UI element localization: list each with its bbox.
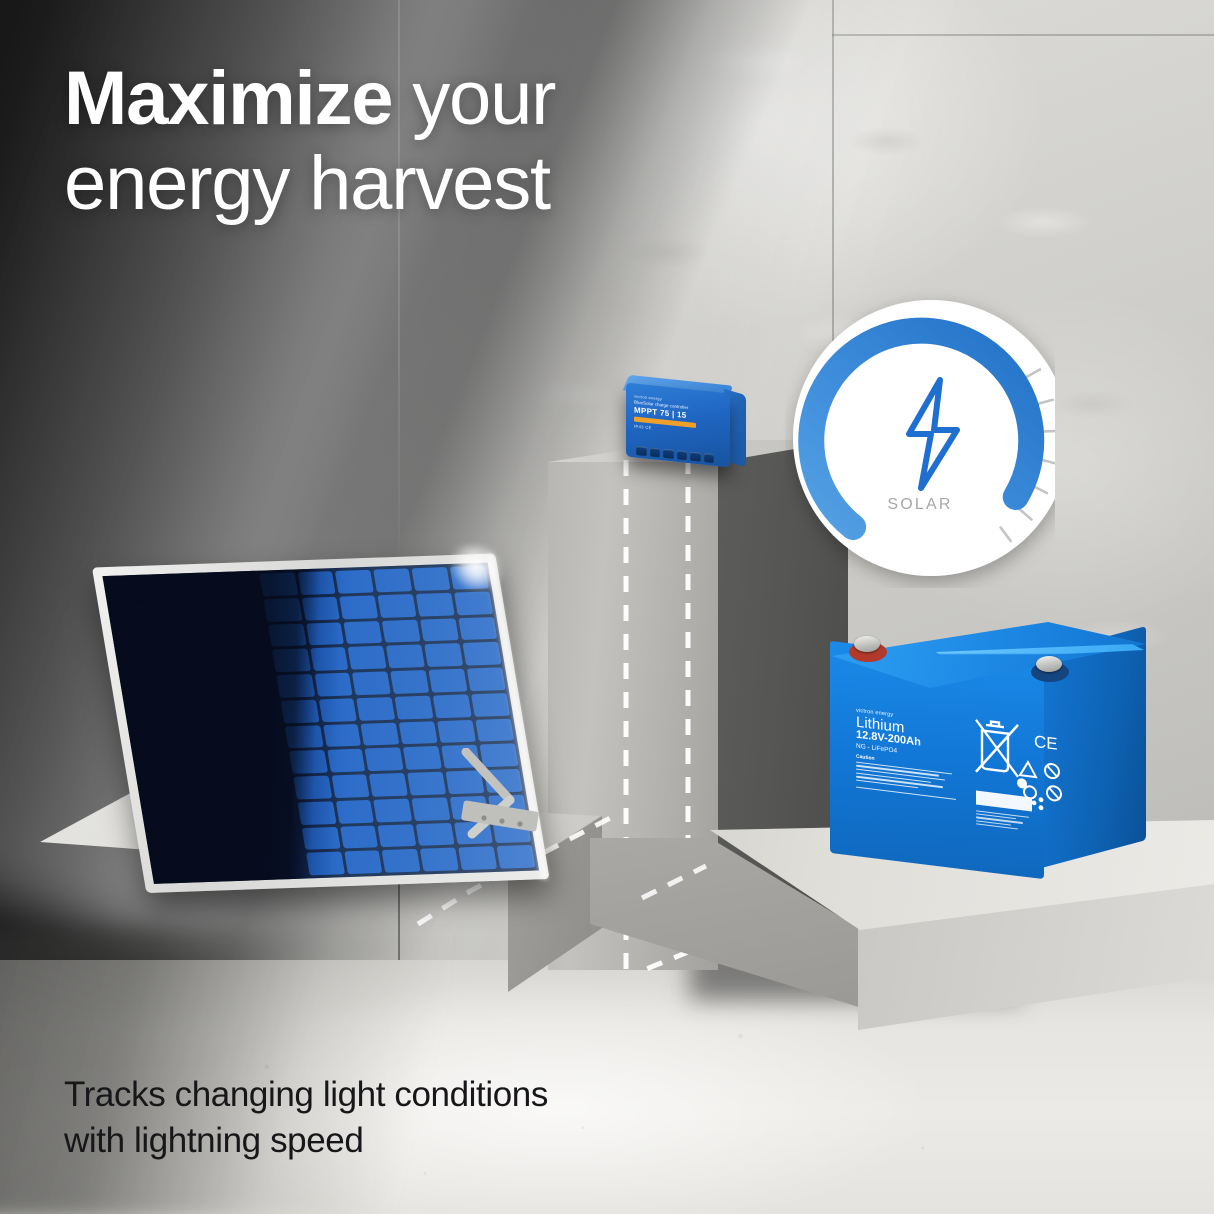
solar-cell — [373, 798, 412, 822]
solar-cell — [301, 826, 340, 850]
solar-panel-kickstand — [452, 748, 572, 858]
lithium-battery: victron energy Lithium 12.8V-200Ah NG - … — [820, 618, 1150, 898]
headline-strong: Maximize — [64, 56, 392, 141]
solar-cell — [191, 626, 230, 650]
solar-cell — [335, 570, 374, 594]
solar-cell — [399, 721, 438, 745]
solar-panel-sun-glint — [443, 543, 509, 590]
solar-cell — [297, 801, 336, 825]
solar-cell — [386, 645, 425, 669]
mppt-charge-controller: victron energy BlueSolar charge controll… — [620, 378, 748, 476]
solar-cell — [208, 727, 247, 751]
headline-light: your — [392, 56, 555, 141]
solar-cell — [378, 824, 417, 848]
gauge-badge-svg — [785, 288, 1055, 588]
solar-cell — [246, 726, 285, 750]
headline-line-1: Maximize your — [64, 56, 824, 141]
solar-cell — [340, 825, 379, 849]
mppt-terminal — [690, 452, 701, 462]
solar-cell — [365, 748, 404, 772]
solar-cell — [289, 750, 328, 774]
solar-cell — [284, 725, 323, 749]
solar-cell — [323, 723, 362, 747]
solar-cell — [225, 829, 264, 853]
solar-cell — [327, 749, 366, 773]
headline: Maximize your energy harvest — [64, 56, 824, 226]
solar-cell — [378, 594, 417, 618]
solar-cell — [331, 774, 370, 798]
solar-cell — [187, 600, 226, 624]
mppt-terminal — [677, 450, 688, 460]
solar-cell — [344, 621, 383, 645]
solar-cell — [123, 679, 162, 703]
solar-cell — [433, 694, 472, 718]
solar-cell — [149, 832, 188, 856]
solar-cell — [182, 575, 221, 599]
caption: Tracks changing light conditions with li… — [64, 1072, 784, 1164]
solar-cell — [301, 596, 340, 620]
solar-cell — [412, 797, 451, 821]
solar-cell — [221, 574, 260, 598]
solar-cell — [310, 647, 349, 671]
solar-cell — [272, 649, 311, 673]
solar-cell — [407, 772, 446, 796]
headline-line-2: energy harvest — [64, 141, 824, 226]
solar-cell — [424, 643, 463, 667]
solar-cell — [335, 800, 374, 824]
solar-cell — [174, 754, 213, 778]
solar-cell — [352, 671, 391, 695]
warning-triangle-icon — [1020, 761, 1036, 777]
solar-cell — [267, 853, 306, 877]
solar-cell — [225, 599, 264, 623]
solar-cell — [458, 617, 497, 641]
solar-cell — [187, 830, 226, 854]
solar-cell — [221, 804, 260, 828]
mppt-terminal — [636, 446, 647, 456]
mppt-terminal — [704, 453, 715, 463]
solar-cell — [467, 667, 506, 691]
solar-cell — [420, 618, 459, 642]
solar-cell — [348, 646, 387, 670]
solar-cell — [182, 805, 221, 829]
solar-cell — [229, 854, 268, 878]
solar-cell — [161, 678, 200, 702]
solar-cell — [238, 675, 277, 699]
solar-cell — [199, 677, 238, 701]
solar-cell — [144, 576, 183, 600]
battery-label: victron energy Lithium 12.8V-200Ah NG - … — [856, 708, 960, 803]
solar-cell — [212, 753, 251, 777]
solar-cell — [437, 719, 476, 743]
solar-cell — [195, 651, 234, 675]
solar-cell — [153, 627, 192, 651]
solar-cell — [110, 603, 149, 627]
solar-cell — [229, 625, 268, 649]
solar-cell — [344, 850, 383, 874]
solar-cell — [314, 673, 353, 697]
solar-cell — [233, 650, 272, 674]
solar-cell — [267, 623, 306, 647]
solar-cell — [412, 567, 451, 591]
solar-cell — [306, 852, 345, 876]
solar-cell — [259, 572, 298, 596]
solar-cell — [361, 722, 400, 746]
solar-cell — [165, 703, 204, 727]
solar-cell — [153, 857, 192, 881]
solar-cell — [276, 674, 315, 698]
solar-cell — [115, 629, 154, 653]
solar-cell — [471, 693, 510, 717]
solar-cell — [280, 699, 319, 723]
solar-cell — [403, 746, 442, 770]
solar-cell — [390, 670, 429, 694]
solar-cell — [297, 571, 336, 595]
caption-line-2: with lightning speed — [64, 1118, 784, 1164]
solar-cell — [255, 777, 294, 801]
solar-cell — [356, 697, 395, 721]
solar-cell — [318, 698, 357, 722]
solar-cell — [140, 781, 179, 805]
solar-cell — [119, 654, 158, 678]
negative-terminal-bolt — [1036, 656, 1062, 672]
solar-cell — [204, 702, 243, 726]
solar-cell — [144, 806, 183, 830]
solar-cell — [242, 701, 281, 725]
ce-mark-icon: CE — [1034, 732, 1058, 754]
solar-cell — [148, 602, 187, 626]
solar-cell — [127, 705, 166, 729]
solar-cell — [339, 595, 378, 619]
solar-cell — [216, 778, 255, 802]
solar-cell — [157, 653, 196, 677]
solar-cell — [395, 695, 434, 719]
solar-cell — [293, 776, 332, 800]
solar-cell — [429, 669, 468, 693]
promo-image-canvas: victron energy BlueSolar charge controll… — [0, 0, 1214, 1214]
solar-cell — [382, 849, 421, 873]
solar-cell — [454, 591, 493, 615]
mppt-terminal — [663, 449, 674, 459]
solar-cell — [106, 578, 145, 602]
solar-cell — [259, 802, 298, 826]
mppt-terminal — [650, 447, 661, 457]
solar-cell — [369, 773, 408, 797]
solar-cell — [136, 756, 175, 780]
caption-line-1: Tracks changing light conditions — [64, 1072, 784, 1118]
solar-cell — [191, 856, 230, 880]
solar-cell — [416, 592, 455, 616]
solar-cell — [382, 619, 421, 643]
solar-cell — [170, 729, 209, 753]
solar-cell — [475, 718, 514, 742]
solar-cell — [306, 622, 345, 646]
solar-cell — [463, 642, 502, 666]
solar-cell — [263, 828, 302, 852]
solar-cell — [132, 730, 171, 754]
gauge-label: SOLAR — [785, 496, 1055, 514]
solar-cell — [263, 598, 302, 622]
solar-gauge-badge: SOLAR — [785, 288, 1055, 588]
solar-cell — [250, 752, 289, 776]
positive-terminal-bolt — [854, 636, 880, 652]
solar-cell — [416, 822, 455, 846]
solar-cell — [178, 780, 217, 804]
solar-cell — [373, 568, 412, 592]
